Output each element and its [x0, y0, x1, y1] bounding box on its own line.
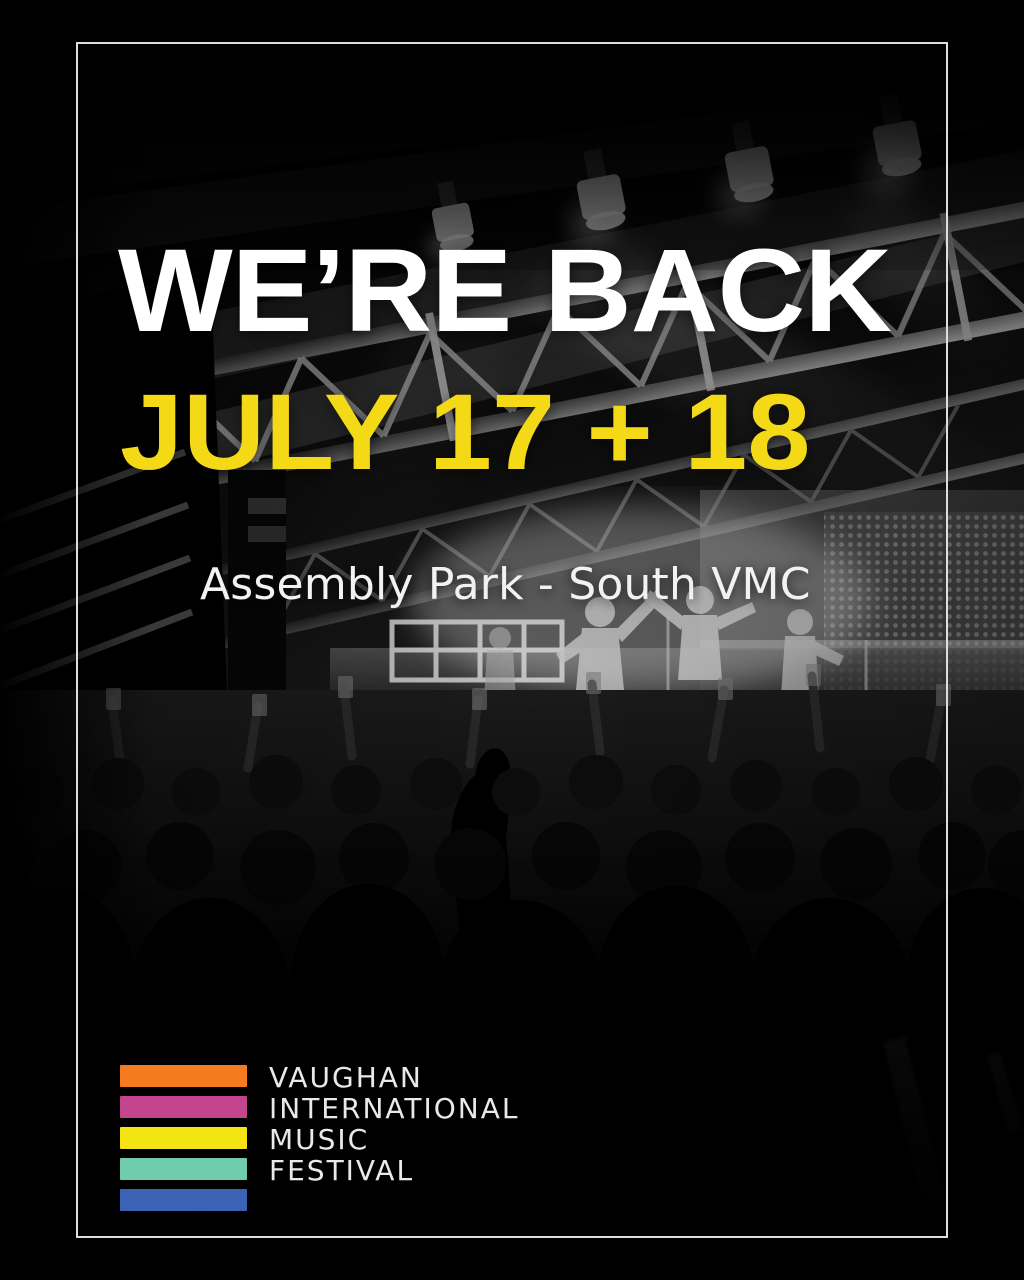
logo-line-international: INTERNATIONAL: [269, 1093, 519, 1124]
logo-wordmark: VAUGHAN INTERNATIONAL MUSIC FESTIVAL: [269, 1060, 519, 1186]
logo-line-vaughan: VAUGHAN: [269, 1062, 519, 1093]
logo-bar-yellow: [120, 1127, 247, 1149]
festival-logo: VAUGHAN INTERNATIONAL MUSIC FESTIVAL: [120, 1060, 519, 1211]
event-poster: WE’RE BACK JULY 17 + 18 Assembly Park - …: [0, 0, 1024, 1280]
logo-bar-mint: [120, 1158, 247, 1180]
logo-line-festival: FESTIVAL: [269, 1155, 519, 1186]
headline-were-back: WE’RE BACK: [118, 232, 891, 350]
dateline-july-17-18: JULY 17 + 18: [120, 378, 810, 486]
logo-color-bars: [120, 1060, 247, 1211]
venue-text: Assembly Park - South VMC: [200, 561, 811, 609]
logo-bar-magenta: [120, 1096, 247, 1118]
logo-bar-orange: [120, 1065, 247, 1087]
logo-bar-blue: [120, 1189, 247, 1211]
logo-line-music: MUSIC: [269, 1124, 519, 1155]
